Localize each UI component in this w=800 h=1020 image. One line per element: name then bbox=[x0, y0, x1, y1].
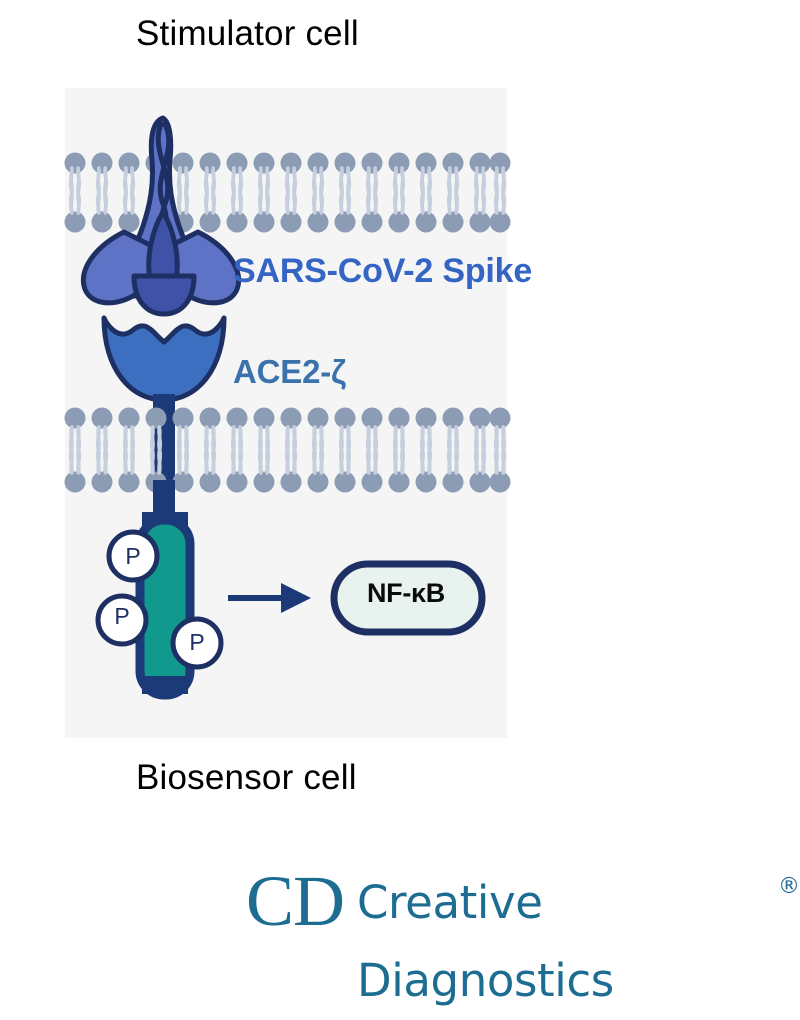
diagram-canvas: Stimulator cell Biosensor cell SARS-CoV-… bbox=[0, 0, 800, 971]
biosensor-cell-label: Biosensor cell bbox=[136, 758, 357, 798]
phospho-label-3: P bbox=[174, 629, 220, 656]
zeta-domain-bottom-cap bbox=[142, 676, 188, 694]
spike-rbd-knob bbox=[134, 276, 194, 314]
stimulator-cell-label: Stimulator cell bbox=[136, 14, 359, 54]
spike-protein-label: SARS-CoV-2 Spike bbox=[233, 252, 532, 291]
ace2-receptor-label: ACE2-ζ bbox=[233, 353, 346, 391]
signaling-diagram-svg bbox=[0, 0, 800, 971]
phospho-label-1: P bbox=[110, 543, 156, 570]
phospho-label-2: P bbox=[99, 603, 145, 630]
logo-monogram: CD bbox=[246, 864, 344, 938]
registered-trademark-icon: ® bbox=[778, 872, 800, 902]
brand-logo: CD Creative Diagnostics ® bbox=[246, 864, 800, 950]
logo-wordmark: Creative Diagnostics bbox=[357, 864, 776, 1020]
nfkb-label: NF-κB bbox=[351, 578, 461, 609]
